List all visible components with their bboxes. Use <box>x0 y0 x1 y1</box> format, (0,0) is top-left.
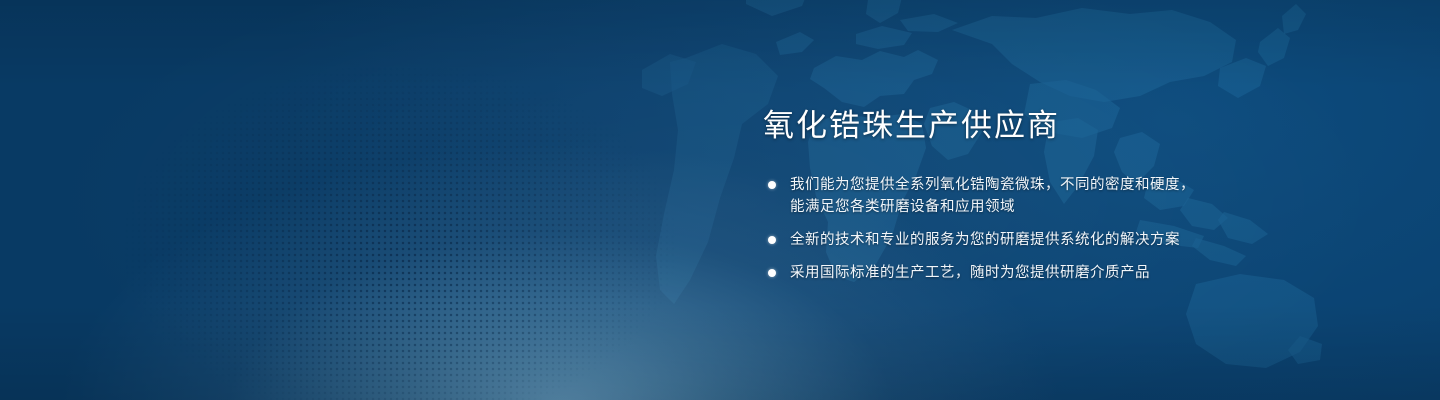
list-item: 我们能为您提供全系列氧化锆陶瓷微珠，不同的密度和硬度， 能满足您各类研磨设备和应… <box>763 174 1323 218</box>
list-item-line: 全新的技术和专业的服务为您的研磨提供系统化的解决方案 <box>790 229 1323 251</box>
list-item: 采用国际标准的生产工艺，随时为您提供研磨介质产品 <box>763 262 1323 284</box>
bullet-dot-icon <box>768 181 776 189</box>
page-title: 氧化锆珠生产供应商 <box>763 108 1323 144</box>
list-item: 全新的技术和专业的服务为您的研磨提供系统化的解决方案 <box>763 229 1323 251</box>
bullet-dot-icon <box>768 269 776 277</box>
feature-list: 我们能为您提供全系列氧化锆陶瓷微珠，不同的密度和硬度， 能满足您各类研磨设备和应… <box>763 174 1323 284</box>
hero-banner: 氧化锆珠生产供应商 我们能为您提供全系列氧化锆陶瓷微珠，不同的密度和硬度， 能满… <box>0 0 1440 400</box>
list-item-line: 我们能为您提供全系列氧化锆陶瓷微珠，不同的密度和硬度， <box>790 174 1323 196</box>
list-item-line: 采用国际标准的生产工艺，随时为您提供研磨介质产品 <box>790 262 1323 284</box>
banner-copy: 氧化锆珠生产供应商 我们能为您提供全系列氧化锆陶瓷微珠，不同的密度和硬度， 能满… <box>763 108 1323 284</box>
bullet-dot-icon <box>768 236 776 244</box>
list-item-line: 能满足您各类研磨设备和应用领域 <box>790 196 1323 218</box>
